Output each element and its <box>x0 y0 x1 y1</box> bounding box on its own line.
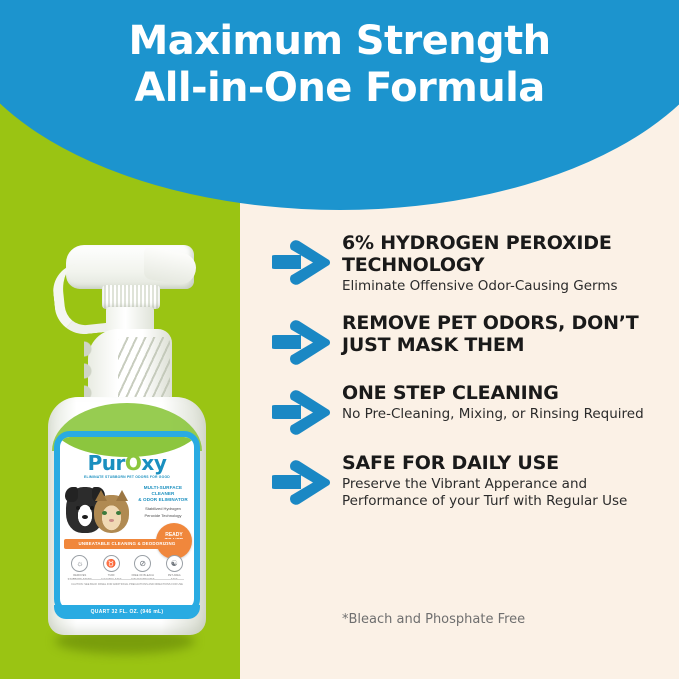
feature-title: SAFE FOR DAILY USE <box>342 452 672 474</box>
bottle-collar <box>102 285 160 309</box>
cat-illustration <box>94 495 129 533</box>
arrow-right-icon <box>272 318 334 366</box>
product-label: PurOxy ELIMINATE STUBBORN PET ODORS FOR … <box>54 431 200 615</box>
benefit-caption-1a: REMOVES <box>66 574 94 577</box>
feature-subtitle: Eliminate Offensive Odor-Causing Germs <box>342 278 672 296</box>
benefit-icon-cell: ☼ REMOVES STUBBORN STAINS <box>66 555 94 581</box>
feature-text: 6% HYDROGEN PEROXIDE TECHNOLOGY Eliminat… <box>334 232 672 296</box>
benefit-icon-row: ☼ REMOVES STUBBORN STAINS ♉ TURF CLEANIN… <box>64 555 190 581</box>
paw-surface-icon: ☯ <box>166 555 183 572</box>
benefit-caption-3a: FREE OF BLEACH <box>129 574 157 577</box>
benefit-icon-cell: ☯ PET AREA SAFE <box>160 555 188 581</box>
product-infographic: Maximum Strength All-in-One Formula PurO… <box>0 0 679 679</box>
label-tagline: ELIMINATE STUBBORN PET ODORS FOR GOOD <box>60 475 194 479</box>
feature-list: 6% HYDROGEN PEROXIDE TECHNOLOGY Eliminat… <box>272 232 672 527</box>
label-fineprint: CAUTION: SEE BACK PANEL FOR ADDITIONAL P… <box>70 579 184 586</box>
logo-part-xy: xy <box>141 451 166 475</box>
cat-eye-right <box>116 511 121 515</box>
label-orange-band: UNBEATABLE CLEANING & DEODORIZING <box>64 539 190 549</box>
feature-subtitle: Preserve the Vibrant Apperance and Perfo… <box>342 476 672 511</box>
title-line-1: Maximum Strength <box>0 18 679 65</box>
claim-main-line-2: & ODOR ELIMINATOR <box>132 497 194 503</box>
feature-subtitle: No Pre-Cleaning, Mixing, or Rinsing Requ… <box>342 406 672 424</box>
grip-notches <box>84 337 106 403</box>
cat-eye-left <box>102 511 107 515</box>
benefit-icon-cell: ♉ TURF CLEANING SAFE <box>97 555 125 581</box>
cat-nose <box>109 519 114 522</box>
paw-print-icon <box>128 445 137 452</box>
feature-item: SAFE FOR DAILY USE Preserve the Vibrant … <box>272 452 672 511</box>
pet-photo <box>66 483 130 535</box>
arrow-right-icon <box>272 388 334 436</box>
page-title: Maximum Strength All-in-One Formula <box>0 18 679 112</box>
feature-text: ONE STEP CLEANING No Pre-Cleaning, Mixin… <box>334 382 672 424</box>
fineprint-line-1: CAUTION: <box>71 583 83 586</box>
feature-title: ONE STEP CLEANING <box>342 382 672 404</box>
claim-sub-line-1: Stabilized Hydrogen <box>132 506 194 511</box>
logo-part-pur: Pur <box>88 451 125 475</box>
benefit-caption-4a: PET AREA <box>160 574 188 577</box>
benefit-caption-2a: TURF <box>97 574 125 577</box>
feature-item: 6% HYDROGEN PEROXIDE TECHNOLOGY Eliminat… <box>272 232 672 296</box>
grass-icon: ♉ <box>103 555 120 572</box>
dog-ear-left <box>65 487 78 502</box>
fineprint-line-2: SEE BACK PANEL FOR ADDITIONAL PRECAUTION… <box>84 583 183 586</box>
feature-item: ONE STEP CLEANING No Pre-Cleaning, Mixin… <box>272 382 672 436</box>
title-line-2: All-in-One Formula <box>0 65 679 112</box>
feature-title: REMOVE PET ODORS, DON’T JUST MASK THEM <box>342 312 672 356</box>
arrow-right-icon <box>272 238 334 286</box>
claim-sub-line-2: Peroxide Technology <box>132 513 194 518</box>
cat-ear-right <box>116 490 128 501</box>
arrow-right-icon <box>272 458 334 506</box>
feature-title: 6% HYDROGEN PEROXIDE TECHNOLOGY <box>342 232 672 276</box>
logo-part-o: O <box>125 451 142 475</box>
sun-icon: ☼ <box>71 555 88 572</box>
label-volume-band: QUART 32 FL. OZ. (946 mL) <box>54 605 200 619</box>
feature-text: REMOVE PET ODORS, DON’T JUST MASK THEM <box>334 312 672 358</box>
feature-text: SAFE FOR DAILY USE Preserve the Vibrant … <box>334 452 672 511</box>
claim-main-line-1: MULTI-SURFACE CLEANER <box>132 485 194 497</box>
spray-bottle-image: PurOxy ELIMINATE STUBBORN PET ODORS FOR … <box>44 245 210 635</box>
benefit-icon-cell: ⊘ FREE OF BLEACH AND PHOSPHATES <box>129 555 157 581</box>
dog-nose <box>82 515 88 519</box>
footnote: *Bleach and Phosphate Free <box>342 612 525 627</box>
no-bleach-icon: ⊘ <box>134 555 151 572</box>
cat-ear-left <box>95 490 107 501</box>
dog-eye-left <box>76 506 80 510</box>
brand-logo: PurOxy <box>60 451 194 475</box>
feature-item: REMOVE PET ODORS, DON’T JUST MASK THEM <box>272 312 672 366</box>
label-claims: MULTI-SURFACE CLEANER & ODOR ELIMINATOR … <box>132 485 194 518</box>
